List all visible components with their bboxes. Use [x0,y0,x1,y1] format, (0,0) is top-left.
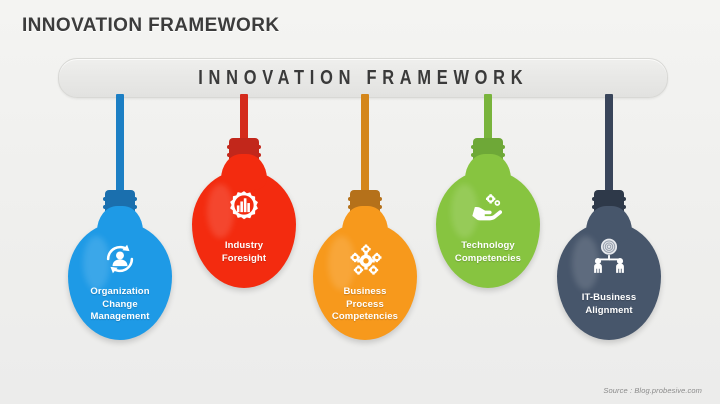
cord [361,94,369,196]
network-people-icon [587,236,631,276]
hand-gear-icon [469,188,507,226]
bulb-label-line: Management [60,311,180,324]
bulb-label-line: Foresight [184,253,304,266]
bulb-label-line: Change [60,299,180,312]
bulb-label-line: IT-Business [549,292,669,305]
bulb-label-line: Business [305,286,425,299]
page-title: INNOVATION FRAMEWORK [22,15,279,37]
bulb-label-line: Organization [60,286,180,299]
bulb-label: Technology Competencies [428,240,548,265]
bulb-label-line: Competencies [428,253,548,266]
source-note: Source : Blog.probesive.com [603,386,702,395]
gear-factory-icon [225,188,263,226]
multi-gear-icon [346,240,384,278]
person-circular-arrows-icon [101,240,139,278]
bulb-label-line: Process [305,299,425,312]
bulb-label: Organization Change Management [60,286,180,324]
banner-title: INNOVATION FRAMEWORK [198,67,528,90]
bulb-label-line: Competencies [305,311,425,324]
cord [240,94,248,144]
cord [484,94,492,144]
bulb-label-line: Industry [184,240,304,253]
cord [116,94,124,196]
cord [605,94,613,196]
bulb-label: Business Process Competencies [305,286,425,324]
bulb-label-line: Alignment [549,305,669,318]
bulb-label: IT-Business Alignment [549,292,669,317]
slide-canvas: INNOVATION FRAMEWORK INNOVATION FRAMEWOR… [0,0,720,404]
bulb-label: Industry Foresight [184,240,304,265]
banner: INNOVATION FRAMEWORK [58,58,668,98]
bulb-label-line: Technology [428,240,548,253]
